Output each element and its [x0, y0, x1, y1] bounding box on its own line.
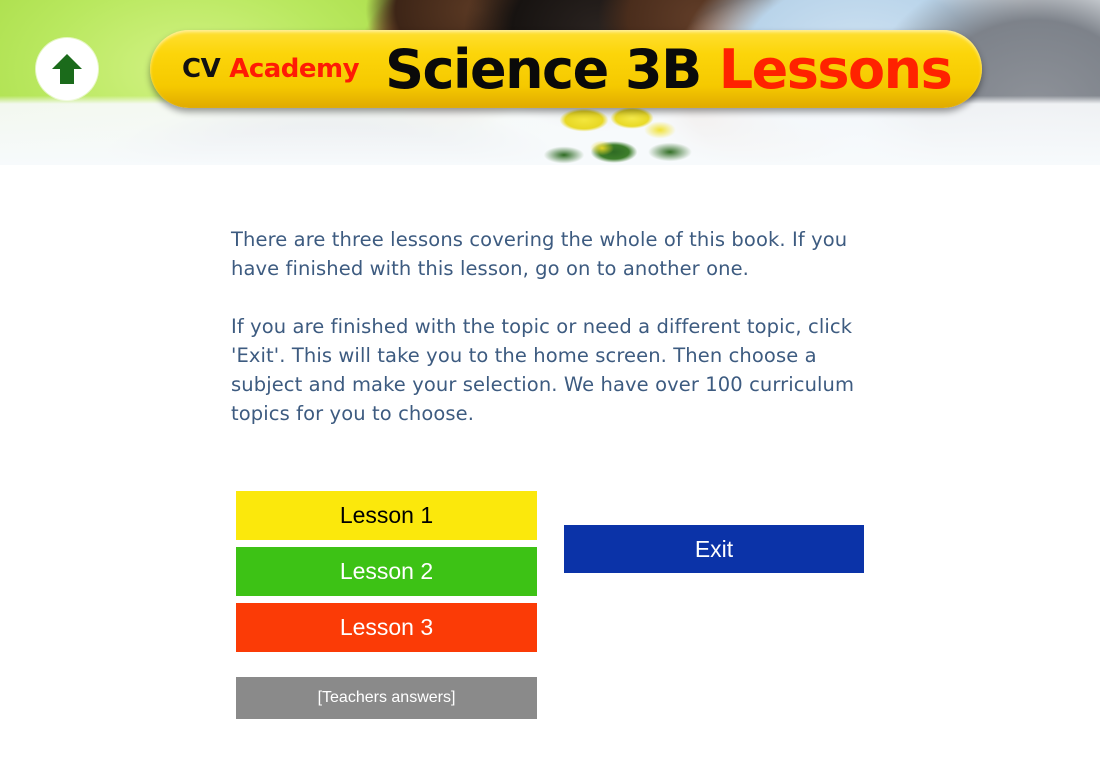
page-title: Science 3B [385, 38, 701, 101]
brand-name: Academy [229, 54, 359, 84]
flower-decoration [540, 108, 720, 165]
lesson-1-button[interactable]: Lesson 1 [236, 491, 537, 540]
teachers-answers-button[interactable]: [Teachers answers] [236, 677, 537, 719]
page-root: CV Academy Science 3B Lessons There are … [0, 0, 1100, 779]
brand-prefix: CV [182, 54, 220, 84]
title-pill: CV Academy Science 3B Lessons [150, 30, 982, 108]
lesson-3-button[interactable]: Lesson 3 [236, 603, 537, 652]
up-arrow-icon [49, 51, 85, 87]
header-banner: CV Academy Science 3B Lessons [0, 0, 1100, 165]
lesson-2-button[interactable]: Lesson 2 [236, 547, 537, 596]
exit-button[interactable]: Exit [564, 525, 864, 573]
intro-paragraph-2: If you are finished with the topic or ne… [231, 312, 871, 428]
home-up-arrow-button[interactable] [36, 38, 98, 100]
intro-paragraph-1: There are three lessons covering the who… [231, 225, 871, 283]
page-title-accent: Lessons [719, 38, 952, 101]
